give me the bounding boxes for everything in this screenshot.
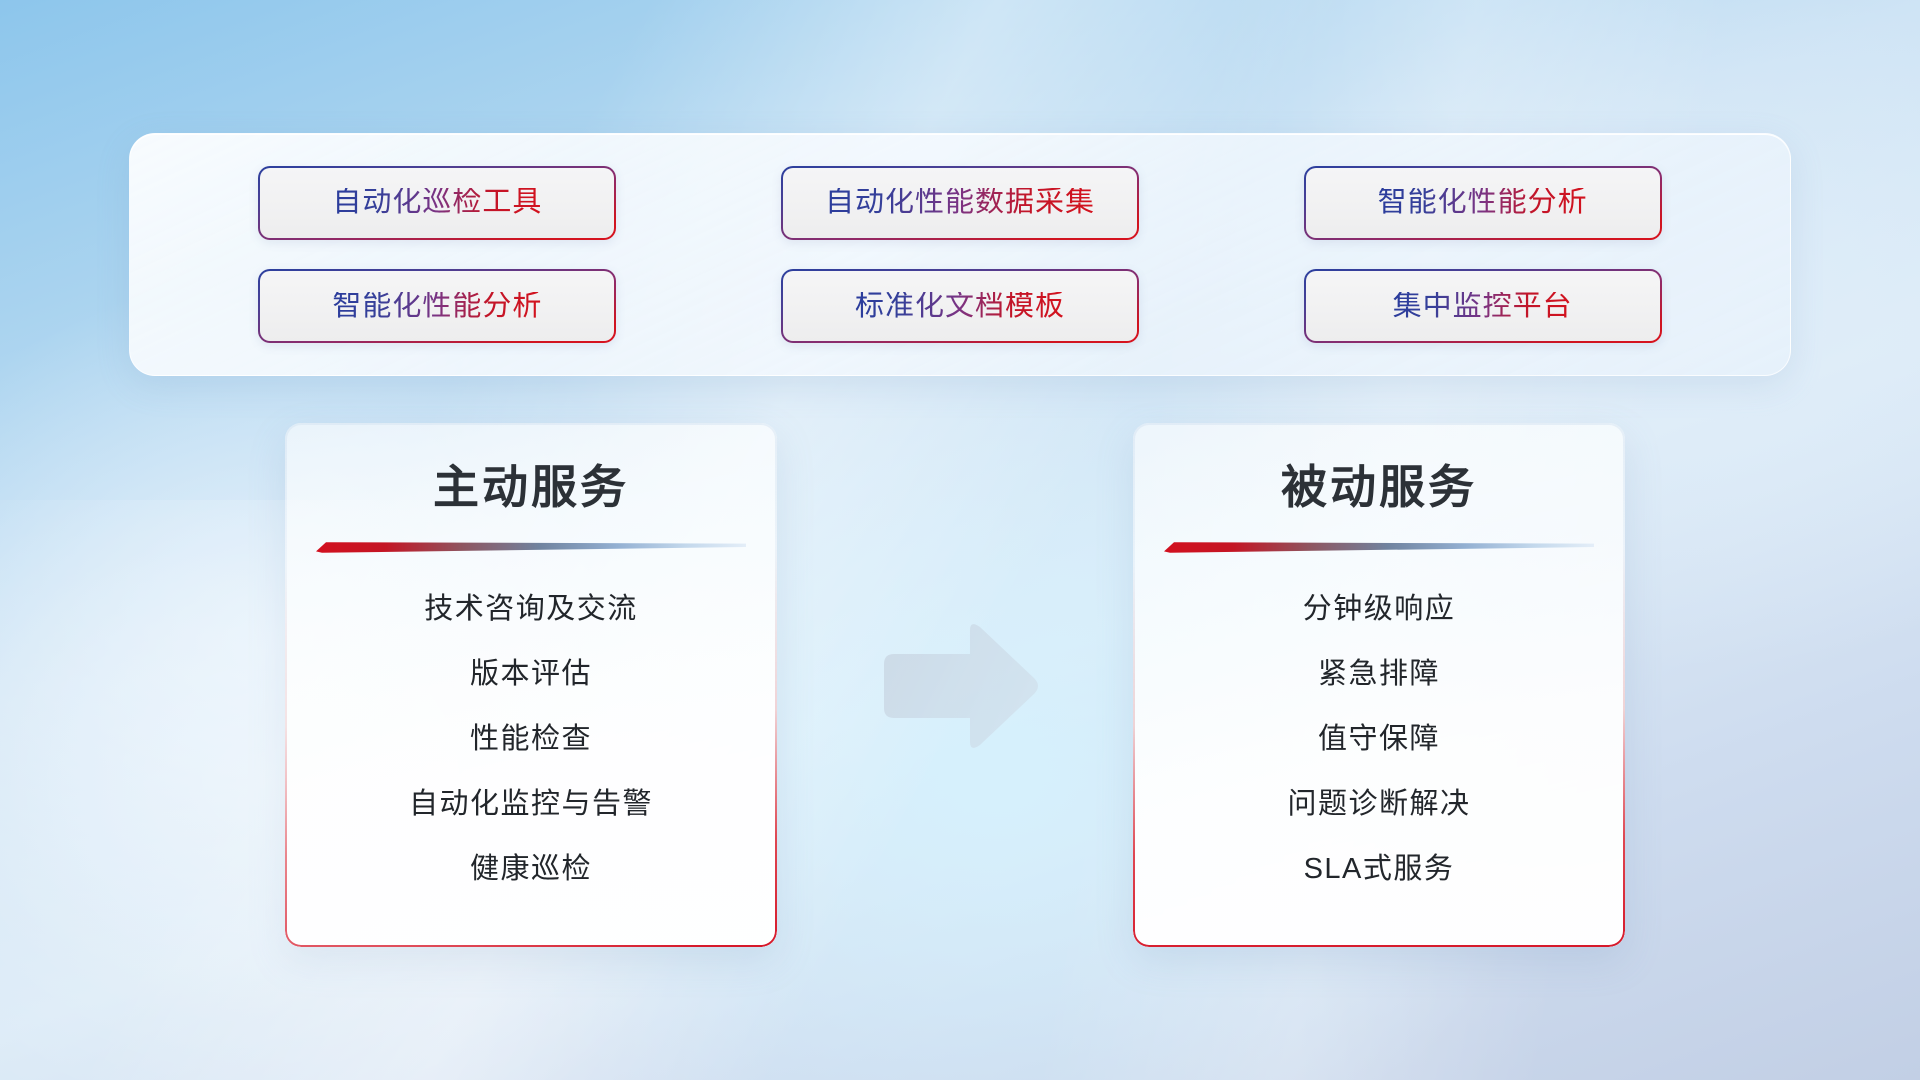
card-divider bbox=[316, 540, 746, 553]
card-divider bbox=[1164, 540, 1594, 553]
service-list-item[interactable]: 问题诊断解决 bbox=[1133, 772, 1625, 837]
reactive-service-card[interactable]: 被动服务 分钟级响应 紧急排障 bbox=[1133, 423, 1625, 947]
capability-pill-label: 集中监控平台 bbox=[1393, 292, 1573, 321]
service-list-item[interactable]: 自动化监控与告警 bbox=[285, 772, 777, 837]
capability-pill[interactable]: 自动化巡检工具 bbox=[258, 166, 616, 240]
capability-pill-label: 自动化性能数据采集 bbox=[825, 188, 1095, 217]
capability-pill[interactable]: 智能化性能分析 bbox=[1304, 166, 1662, 240]
capability-pill[interactable]: 集中监控平台 bbox=[1304, 269, 1662, 343]
capability-pill[interactable]: 自动化性能数据采集 bbox=[781, 166, 1139, 240]
service-item-list: 技术咨询及交流 版本评估 性能检查 自动化监控与告警 健康巡检 bbox=[285, 577, 777, 902]
capability-pill-inner: 集中监控平台 bbox=[1306, 271, 1660, 341]
service-list-item[interactable]: 健康巡检 bbox=[285, 837, 777, 902]
capability-panel: 自动化巡检工具 自动化性能数据采集 智能化性能分析 智能化性能分析 标准化文档模… bbox=[129, 133, 1791, 376]
capability-pill-inner: 智能化性能分析 bbox=[260, 271, 614, 341]
service-list-item[interactable]: 版本评估 bbox=[285, 642, 777, 707]
service-list-item[interactable]: 紧急排障 bbox=[1133, 642, 1625, 707]
diagram-canvas: 自动化巡检工具 自动化性能数据采集 智能化性能分析 智能化性能分析 标准化文档模… bbox=[0, 0, 1920, 1080]
service-list-item[interactable]: SLA式服务 bbox=[1133, 837, 1625, 902]
service-item-list: 分钟级响应 紧急排障 值守保障 问题诊断解决 SLA式服务 bbox=[1133, 577, 1625, 902]
capability-pill-inner: 智能化性能分析 bbox=[1306, 168, 1660, 238]
capability-pill-inner: 自动化巡检工具 bbox=[260, 168, 614, 238]
service-list-item[interactable]: 分钟级响应 bbox=[1133, 577, 1625, 642]
service-list-item[interactable]: 值守保障 bbox=[1133, 707, 1625, 772]
capability-pill[interactable]: 智能化性能分析 bbox=[258, 269, 616, 343]
flow-arrow-right-icon bbox=[876, 620, 1040, 752]
card-title: 主动服务 bbox=[285, 461, 777, 514]
capability-pill-label: 自动化巡检工具 bbox=[332, 188, 542, 217]
capability-pill-inner: 标准化文档模板 bbox=[783, 271, 1137, 341]
capability-pill-label: 智能化性能分析 bbox=[332, 292, 542, 321]
service-list-item[interactable]: 技术咨询及交流 bbox=[285, 577, 777, 642]
capability-pill[interactable]: 标准化文档模板 bbox=[781, 269, 1139, 343]
capability-pill-label: 智能化性能分析 bbox=[1378, 188, 1588, 217]
capability-pill-inner: 自动化性能数据采集 bbox=[783, 168, 1137, 238]
capability-pill-label: 标准化文档模板 bbox=[855, 292, 1065, 321]
proactive-service-card[interactable]: 主动服务 技术咨询及交流 版本评估 bbox=[285, 423, 777, 947]
service-list-item[interactable]: 性能检查 bbox=[285, 707, 777, 772]
card-title: 被动服务 bbox=[1133, 461, 1625, 514]
